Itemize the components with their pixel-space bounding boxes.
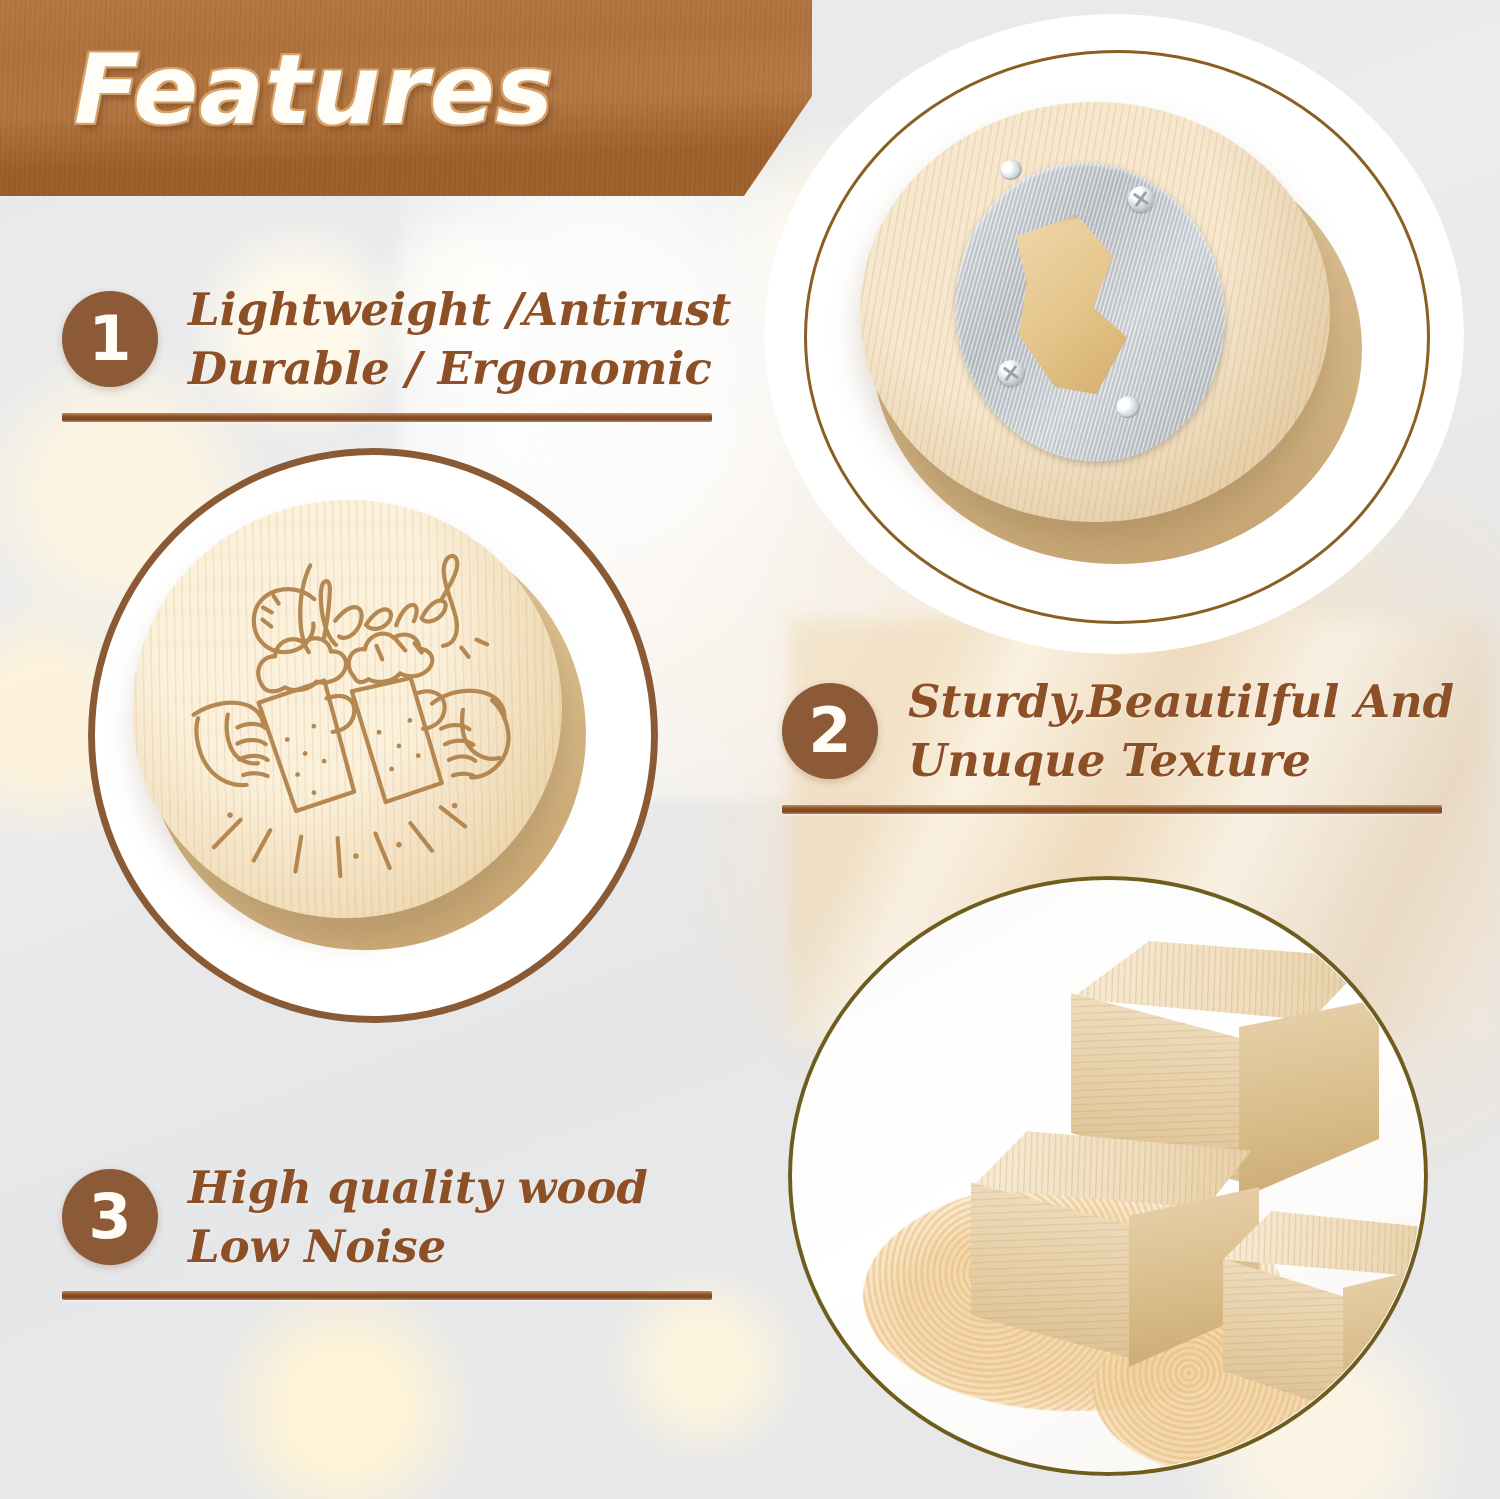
wood-block-right-side [1343,1259,1423,1419]
feature-1-row: 1 Lightweight /Antirust Durable / Ergono… [62,280,712,399]
coaster-engraving [108,475,586,942]
feature-1-text: Lightweight /Antirust Durable / Ergonomi… [188,280,731,399]
wood-block-right-front [1223,1245,1353,1415]
photo-opener-underside [764,14,1464,654]
feature-3-line-2: Low Noise [188,1217,648,1276]
feature-2-badge: 2 [782,683,878,779]
infographic-page: Features 1 Lightweight /Antirust Durable… [0,0,1500,1499]
photo-wood-blocks [788,876,1428,1476]
feature-2-divider [782,805,1442,814]
opener-screw-bottom [998,360,1024,386]
header-banner: Features [0,0,812,196]
feature-3-number: 3 [88,1186,131,1248]
feature-1-line-1: Lightweight /Antirust [188,280,731,339]
feature-item-3: 3 High quality wood Low Noise [62,1158,712,1300]
feature-2-line-1: Sturdy,Beautilful And [908,672,1454,731]
feature-3-text: High quality wood Low Noise [188,1158,648,1277]
left-column: 1 Lightweight /Antirust Durable / Ergono… [0,196,760,1499]
feature-3-row: 3 High quality wood Low Noise [62,1158,712,1277]
wood-block-right [1223,1211,1423,1441]
page-title: Features [74,42,554,138]
feature-2-text: Sturdy,Beautilful And Unuque Texture [908,672,1454,791]
feature-3-divider [62,1291,712,1300]
feature-1-divider [62,413,712,422]
feature-item-2: 2 Sturdy,Beautilful And Unuque Texture [782,672,1442,814]
feature-1-line-2: Durable / Ergonomic [188,339,731,398]
feature-2-number: 2 [808,700,851,762]
blocks-scene [793,881,1423,1471]
feature-item-1: 1 Lightweight /Antirust Durable / Ergono… [62,280,712,422]
opener-wood-face [860,102,1330,522]
feature-2-row: 2 Sturdy,Beautilful And Unuque Texture [782,672,1442,791]
feature-1-number: 1 [88,308,131,370]
right-column: 2 Sturdy,Beautilful And Unuque Texture [740,0,1500,1499]
feature-1-badge: 1 [62,291,158,387]
feature-2-line-2: Unuque Texture [908,731,1454,790]
opener-screw-top [1128,186,1154,212]
feature-3-badge: 3 [62,1169,158,1265]
coaster-face [108,475,586,942]
feature-3-line-1: High quality wood [188,1158,648,1217]
photo-cheers-coaster [88,448,658,1023]
